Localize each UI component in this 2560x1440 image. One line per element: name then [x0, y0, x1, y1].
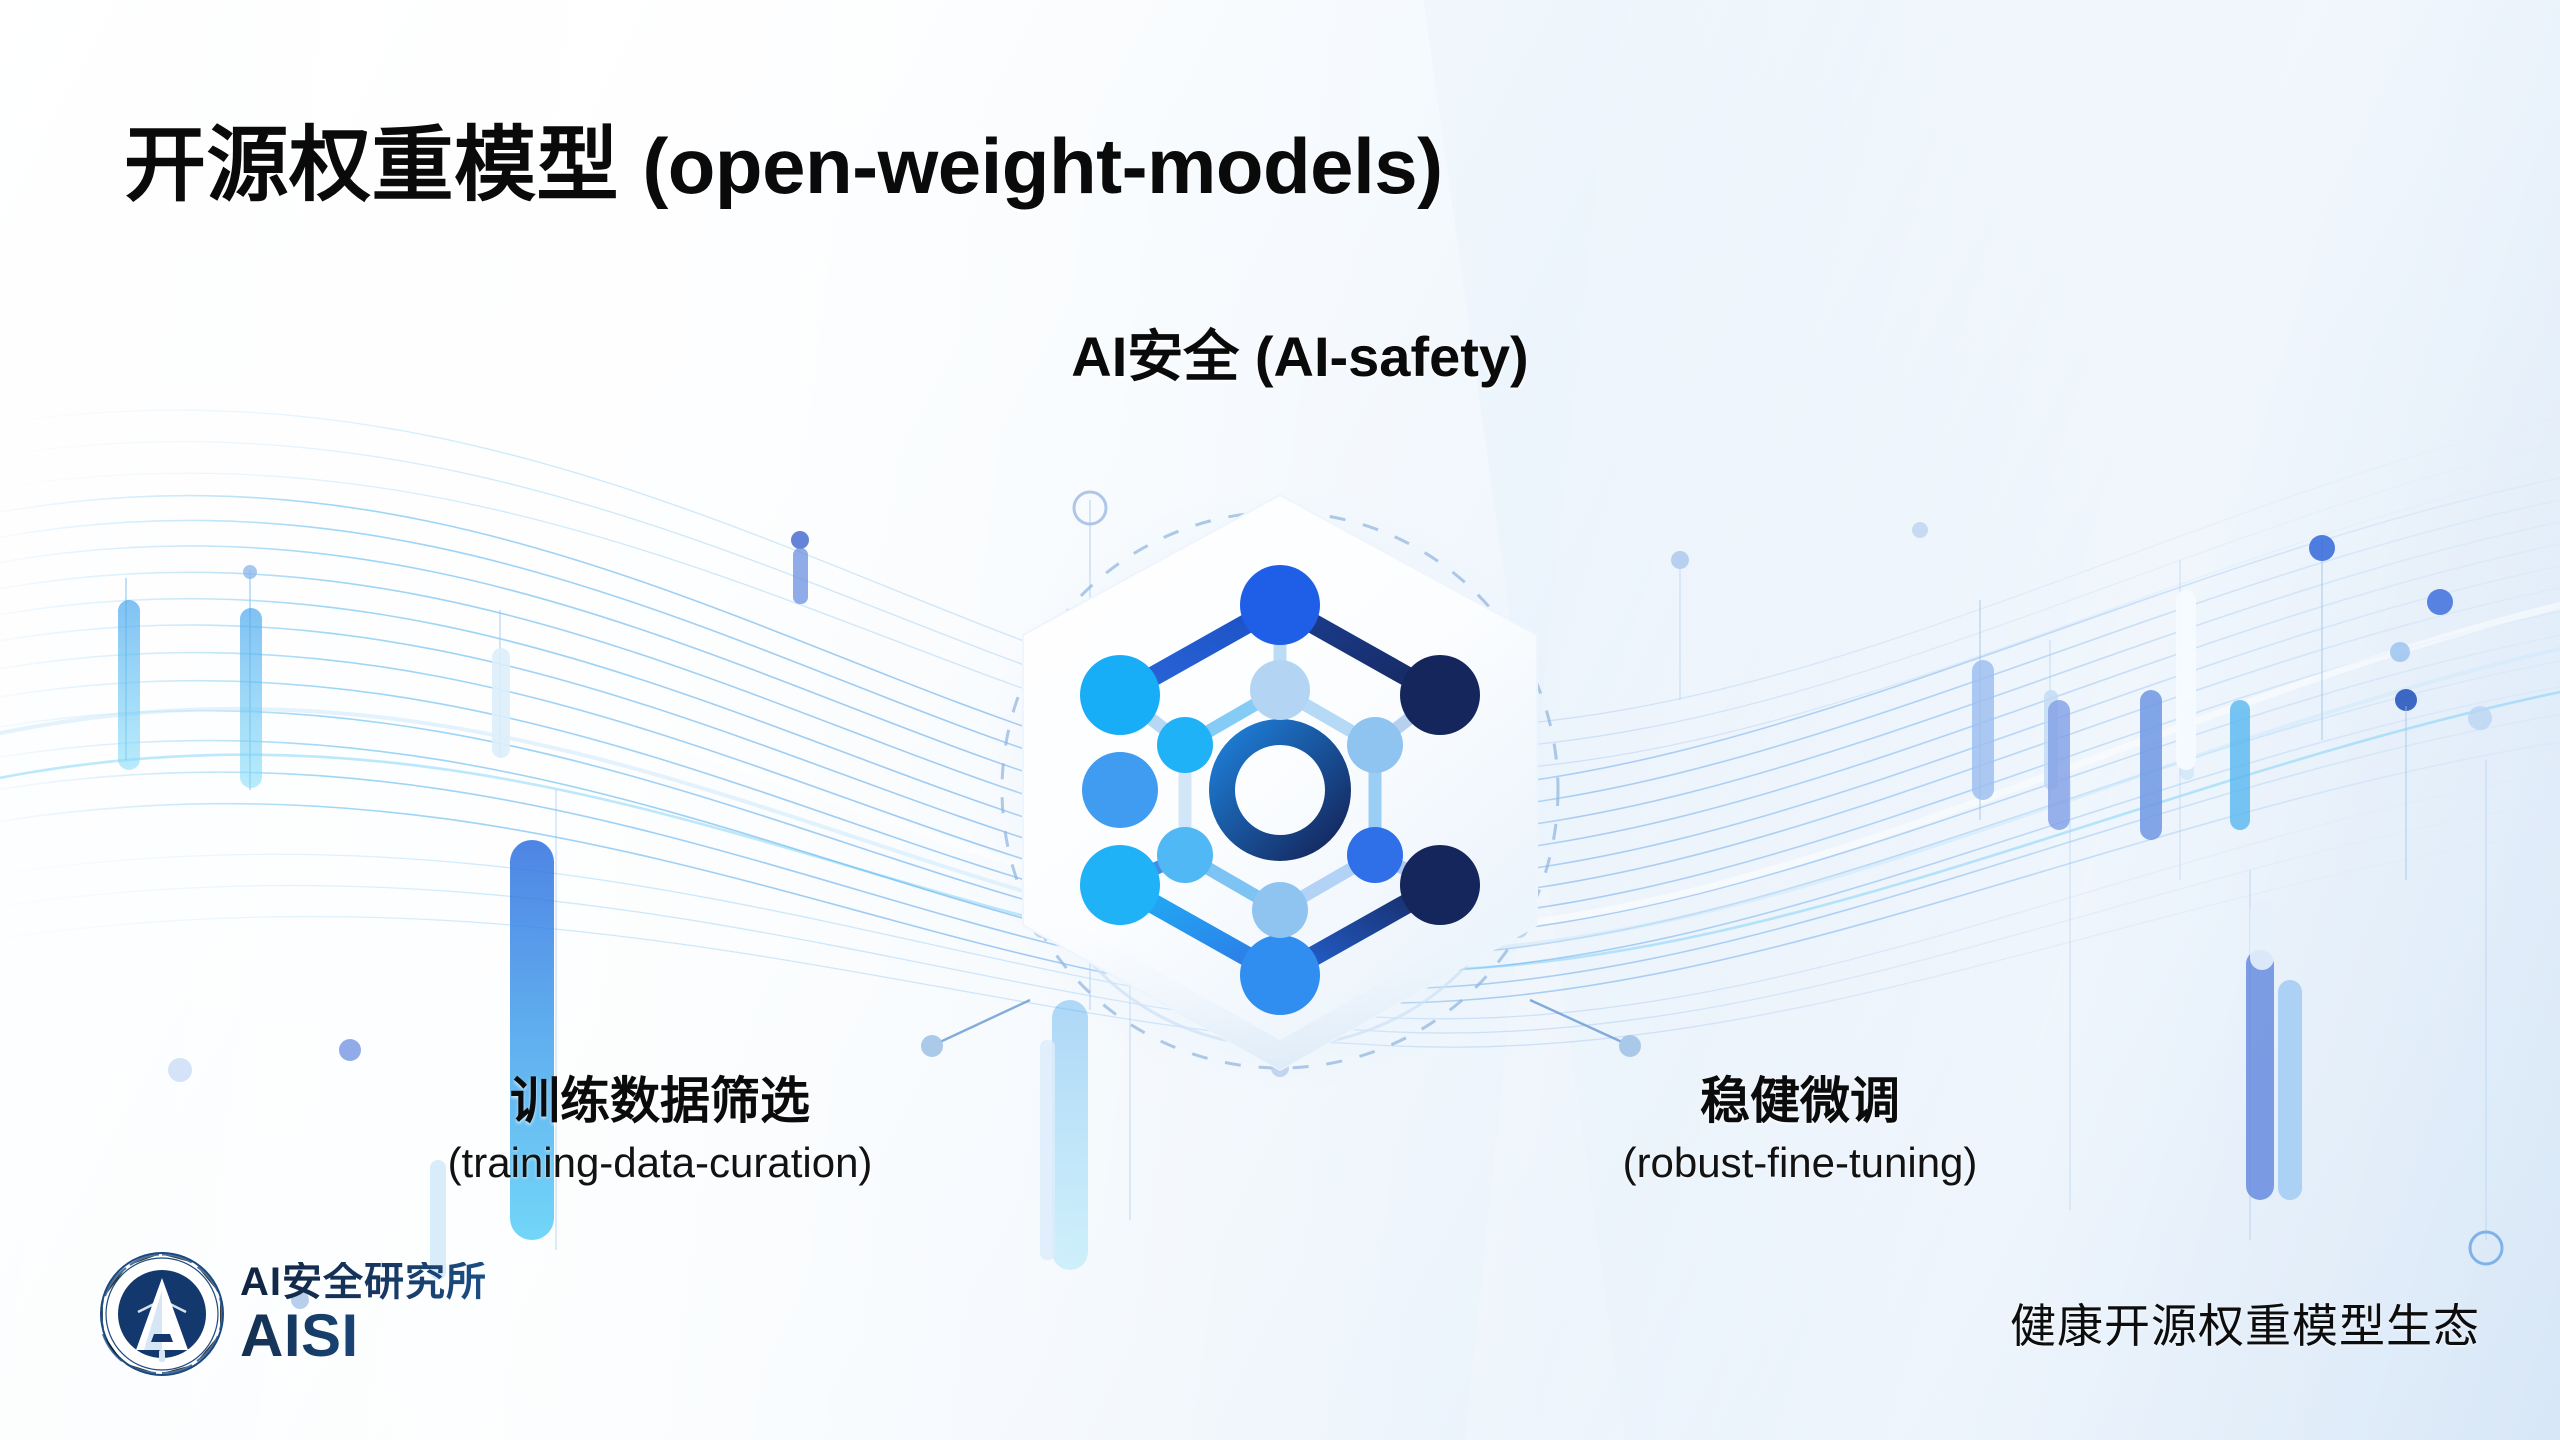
center-icon-container [930, 440, 1630, 1140]
node-top-right [1400, 655, 1480, 735]
node-top [1240, 565, 1320, 645]
logo-name-cn: AI安全研究所 [240, 1262, 487, 1302]
page-title: 开源权重模型 (open-weight-models) [124, 98, 1443, 217]
page-subtitle-text: AI安全 (AI-safety) [1071, 312, 1528, 393]
node-left-mid [1082, 752, 1158, 828]
node-inner-top-right [1347, 717, 1403, 773]
footer-note: 健康开源权重模型生态 [2010, 1290, 2480, 1356]
logo-wordmark: AI安全研究所 AISI [240, 1262, 487, 1366]
page-title-en: (open-weight-models) [642, 122, 1442, 210]
branch-label-robust-fine-tuning: 稳健微调 (robust-fine-tuning) [1430, 1072, 2170, 1190]
logo-name-en: AISI [240, 1306, 487, 1366]
aisi-seal-icon [98, 1250, 226, 1378]
node-inner-top [1250, 660, 1310, 720]
slide-canvas: 开源权重模型 (open-weight-models) AI安全 (AI-saf… [0, 0, 2560, 1440]
node-bottom [1240, 935, 1320, 1015]
network-hexagon-icon [930, 440, 1630, 1140]
node-top-left [1080, 655, 1160, 735]
page-subtitle: AI安全 (AI-safety) [0, 312, 2560, 393]
page-title-cn: 开源权重模型 [124, 120, 619, 211]
node-inner-top-left [1157, 717, 1213, 773]
branch-right-en: (robust-fine-tuning) [1430, 1137, 2170, 1190]
node-inner-bottom-right [1347, 827, 1403, 883]
branch-left-en: (training-data-curation) [290, 1137, 1030, 1190]
branch-label-training-data-curation: 训练数据筛选 (training-data-curation) [290, 1072, 1030, 1190]
node-bottom-left [1080, 845, 1160, 925]
branch-left-cn: 训练数据筛选 [290, 1072, 1030, 1131]
node-inner-bottom [1252, 882, 1308, 938]
node-bottom-right [1400, 845, 1480, 925]
aisi-logo: AI安全研究所 AISI [98, 1250, 487, 1378]
branch-right-cn: 稳健微调 [1430, 1072, 2170, 1131]
node-inner-bottom-left [1157, 827, 1213, 883]
